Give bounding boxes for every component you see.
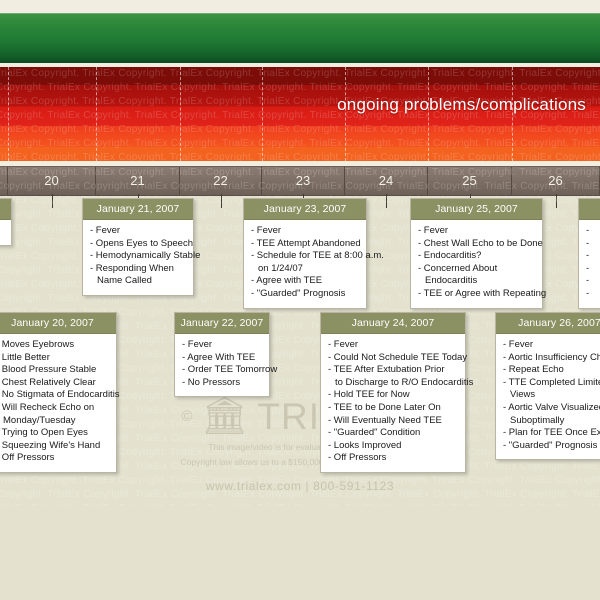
day-separator-2 (180, 67, 181, 161)
card-bullet: Endocarditis (418, 275, 535, 288)
card-jan26-date: January 26, 2007 (496, 313, 600, 334)
timeline-day-21[interactable]: 21 (96, 167, 180, 195)
card-jan25[interactable]: January 25, 2007- Fever- Chest Wall Echo… (410, 198, 543, 309)
card-bullet: Suboptimally (503, 415, 600, 428)
day-separator-6 (512, 67, 513, 161)
watermark-row: TrialEx Copyright. TrialEx Copyright. Tr… (0, 474, 600, 488)
card-bullet: - TEE After Extubation Prior (328, 364, 458, 377)
card-bullet: - Concerned About (418, 263, 535, 276)
card-bullet: ds (0, 225, 4, 238)
card-bullet: - "Guarded" Prognosis (503, 440, 600, 453)
watermark-row: TrialEx Copyright. TrialEx Copyright. Tr… (0, 67, 600, 81)
card-jan23-body: - Fever- TEE Attempt Abandoned- Schedule… (244, 220, 366, 308)
card-jan19-partial-body: ds (0, 220, 11, 245)
card-bullet: Monday/Tuesday (0, 415, 109, 428)
card-bullet: - "Guarded" Condition (328, 427, 458, 440)
card-bullet: to Discharge to R/O Endocarditis (328, 377, 458, 390)
banner-label: ongoing problems/complications (337, 95, 586, 115)
watermark-row: TrialEx Copyright. TrialEx Copyright. Tr… (0, 502, 600, 506)
timeline-tick-4 (386, 194, 387, 208)
card-bullet: - Trying to Open Eyes (0, 427, 109, 440)
card-jan21-date: January 21, 2007 (83, 199, 193, 220)
watermark-row: TrialEx Copyright. TrialEx Copyright. Tr… (0, 151, 600, 161)
card-bullet: - Fever (251, 225, 359, 238)
timeline-tick-0 (52, 194, 53, 208)
day-separator-4 (345, 67, 346, 161)
card-bullet: - Blood Pressure Stable (0, 364, 109, 377)
card-bullet: - Endocarditis? (418, 250, 535, 263)
temple-icon: 🏛 (201, 395, 249, 438)
timeline-day-bar[interactable]: 20212223242526 (0, 166, 600, 196)
top-cream-strip (0, 0, 600, 13)
timeline-day-partial[interactable] (0, 167, 8, 195)
card-jan26[interactable]: January 26, 2007- Fever- Aortic Insuffic… (495, 312, 600, 460)
day-separator-0 (8, 67, 9, 161)
card-bullet: - Off Pressors (328, 452, 458, 465)
day-separator-1 (96, 67, 97, 161)
card-bullet: - (586, 275, 600, 288)
card-bullet: Views (503, 389, 600, 402)
green-header-bar (0, 13, 600, 63)
card-bullet: - TEE to be Done Later On (328, 402, 458, 415)
card-jan27-partial-date (579, 199, 600, 220)
watermark-row: TrialEx Copyright. TrialEx Copyright. Tr… (0, 123, 600, 137)
day-separator-5 (428, 67, 429, 161)
card-jan22[interactable]: January 22, 2007- Fever- Agree With TEE-… (174, 312, 270, 397)
card-bullet: - Fever (418, 225, 535, 238)
watermark-row: TrialEx Copyright. TrialEx Copyright. Tr… (0, 488, 600, 502)
card-jan20[interactable]: January 20, 2007- Moves Eyebrows- Little… (0, 312, 117, 473)
card-bullet: - (586, 238, 600, 251)
card-bullet: - TTE Completed Limited (503, 377, 600, 390)
card-jan24-date: January 24, 2007 (321, 313, 465, 334)
card-bullet: - TEE or Agree with Repeating (418, 288, 535, 301)
timeline-tick-2 (221, 194, 222, 208)
card-bullet: - Responding When (90, 263, 186, 276)
card-bullet: - Fever (503, 339, 600, 352)
card-bullet: - Chest Relatively Clear (0, 377, 109, 390)
card-bullet: - No Stigmata of Endocarditis (0, 389, 109, 402)
timeline-day-23[interactable]: 23 (262, 167, 345, 195)
card-jan19-partial-date (0, 199, 11, 220)
timeline-day-22[interactable]: 22 (180, 167, 262, 195)
card-jan23-date: January 23, 2007 (244, 199, 366, 220)
card-jan21[interactable]: January 21, 2007- Fever- Opens Eyes to S… (82, 198, 194, 296)
card-bullet: - Looks Improved (328, 440, 458, 453)
timeline-day-25[interactable]: 25 (428, 167, 512, 195)
card-bullet: Name Called (90, 275, 186, 288)
card-bullet: - Aortic Insufficiency Checked (503, 352, 600, 365)
card-bullet: - Schedule for TEE at 8:00 a.m. (251, 250, 359, 263)
card-bullet: - Agree with TEE (251, 275, 359, 288)
card-jan25-date: January 25, 2007 (411, 199, 542, 220)
card-bullet: - Hold TEE for Now (328, 389, 458, 402)
card-bullet: - (586, 250, 600, 263)
card-bullet: - (586, 288, 600, 301)
timeline-tick-6 (556, 194, 557, 208)
timeline-day-20[interactable]: 20 (8, 167, 96, 195)
card-jan20-date: January 20, 2007 (0, 313, 116, 334)
problems-banner: TrialEx Copyright. TrialEx Copyright. Tr… (0, 67, 600, 161)
card-bullet: - Repeat Echo (503, 364, 600, 377)
card-bullet: - Hemodynamically Stable (90, 250, 186, 263)
timeline-day-24[interactable]: 24 (345, 167, 428, 195)
card-bullet: - Plan for TEE Once Extubated (503, 427, 600, 440)
card-jan23[interactable]: January 23, 2007- Fever- TEE Attempt Aba… (243, 198, 367, 309)
card-jan25-body: - Fever- Chest Wall Echo to be Done- End… (411, 220, 542, 308)
day-separator-3 (262, 67, 263, 161)
card-bullet: - Squeezing Wife's Hand (0, 440, 109, 453)
card-bullet: - Opens Eyes to Speech (90, 238, 186, 251)
card-jan20-body: - Moves Eyebrows- Little Better- Blood P… (0, 334, 116, 472)
card-bullet: - Fever (328, 339, 458, 352)
card-bullet: - Will Eventually Need TEE (328, 415, 458, 428)
card-bullet: - Moves Eyebrows (0, 339, 109, 352)
card-jan26-body: - Fever- Aortic Insufficiency Checked- R… (496, 334, 600, 459)
card-bullet: on 1/24/07 (251, 263, 359, 276)
card-bullet: - Fever (182, 339, 262, 352)
card-bullet: - No Pressors (182, 377, 262, 390)
card-bullet: - Order TEE Tomorrow (182, 364, 262, 377)
card-bullet: - Agree With TEE (182, 352, 262, 365)
card-bullet: - (586, 263, 600, 276)
card-jan22-date: January 22, 2007 (175, 313, 269, 334)
card-bullet: - Little Better (0, 352, 109, 365)
watermark-row: TrialEx Copyright. TrialEx Copyright. Tr… (0, 137, 600, 151)
timeline-exhibit: TrialEx Copyright. TrialEx Copyright. Tr… (0, 0, 600, 600)
card-jan27-partial[interactable]: ------ (578, 198, 600, 309)
card-bullet: - Will Recheck Echo on (0, 402, 109, 415)
card-jan24[interactable]: January 24, 2007- Fever- Could Not Sched… (320, 312, 466, 473)
watermark-row: TrialEx Copyright. TrialEx Copyright. Tr… (0, 81, 600, 95)
card-bullet: - TEE Attempt Abandoned (251, 238, 359, 251)
card-bullet: - Off Pressors (0, 452, 109, 465)
card-bullet: - Chest Wall Echo to be Done (418, 238, 535, 251)
card-jan19-partial[interactable]: ds (0, 198, 12, 246)
card-bullet: - Fever (90, 225, 186, 238)
card-jan27-partial-body: ------ (579, 220, 600, 308)
timeline-day-26[interactable]: 26 (512, 167, 600, 195)
card-bullet: - (586, 225, 600, 238)
card-bullet: - Aortic Valve Visualized (503, 402, 600, 415)
card-jan24-body: - Fever- Could Not Schedule TEE Today- T… (321, 334, 465, 472)
card-jan22-body: - Fever- Agree With TEE- Order TEE Tomor… (175, 334, 269, 396)
card-jan21-body: - Fever- Opens Eyes to Speech- Hemodynam… (83, 220, 193, 295)
card-bullet: - Could Not Schedule TEE Today (328, 352, 458, 365)
watermark-url: www.trialex.com | 800-591-1123 (0, 479, 600, 493)
card-bullet: - "Guarded" Prognosis (251, 288, 359, 301)
